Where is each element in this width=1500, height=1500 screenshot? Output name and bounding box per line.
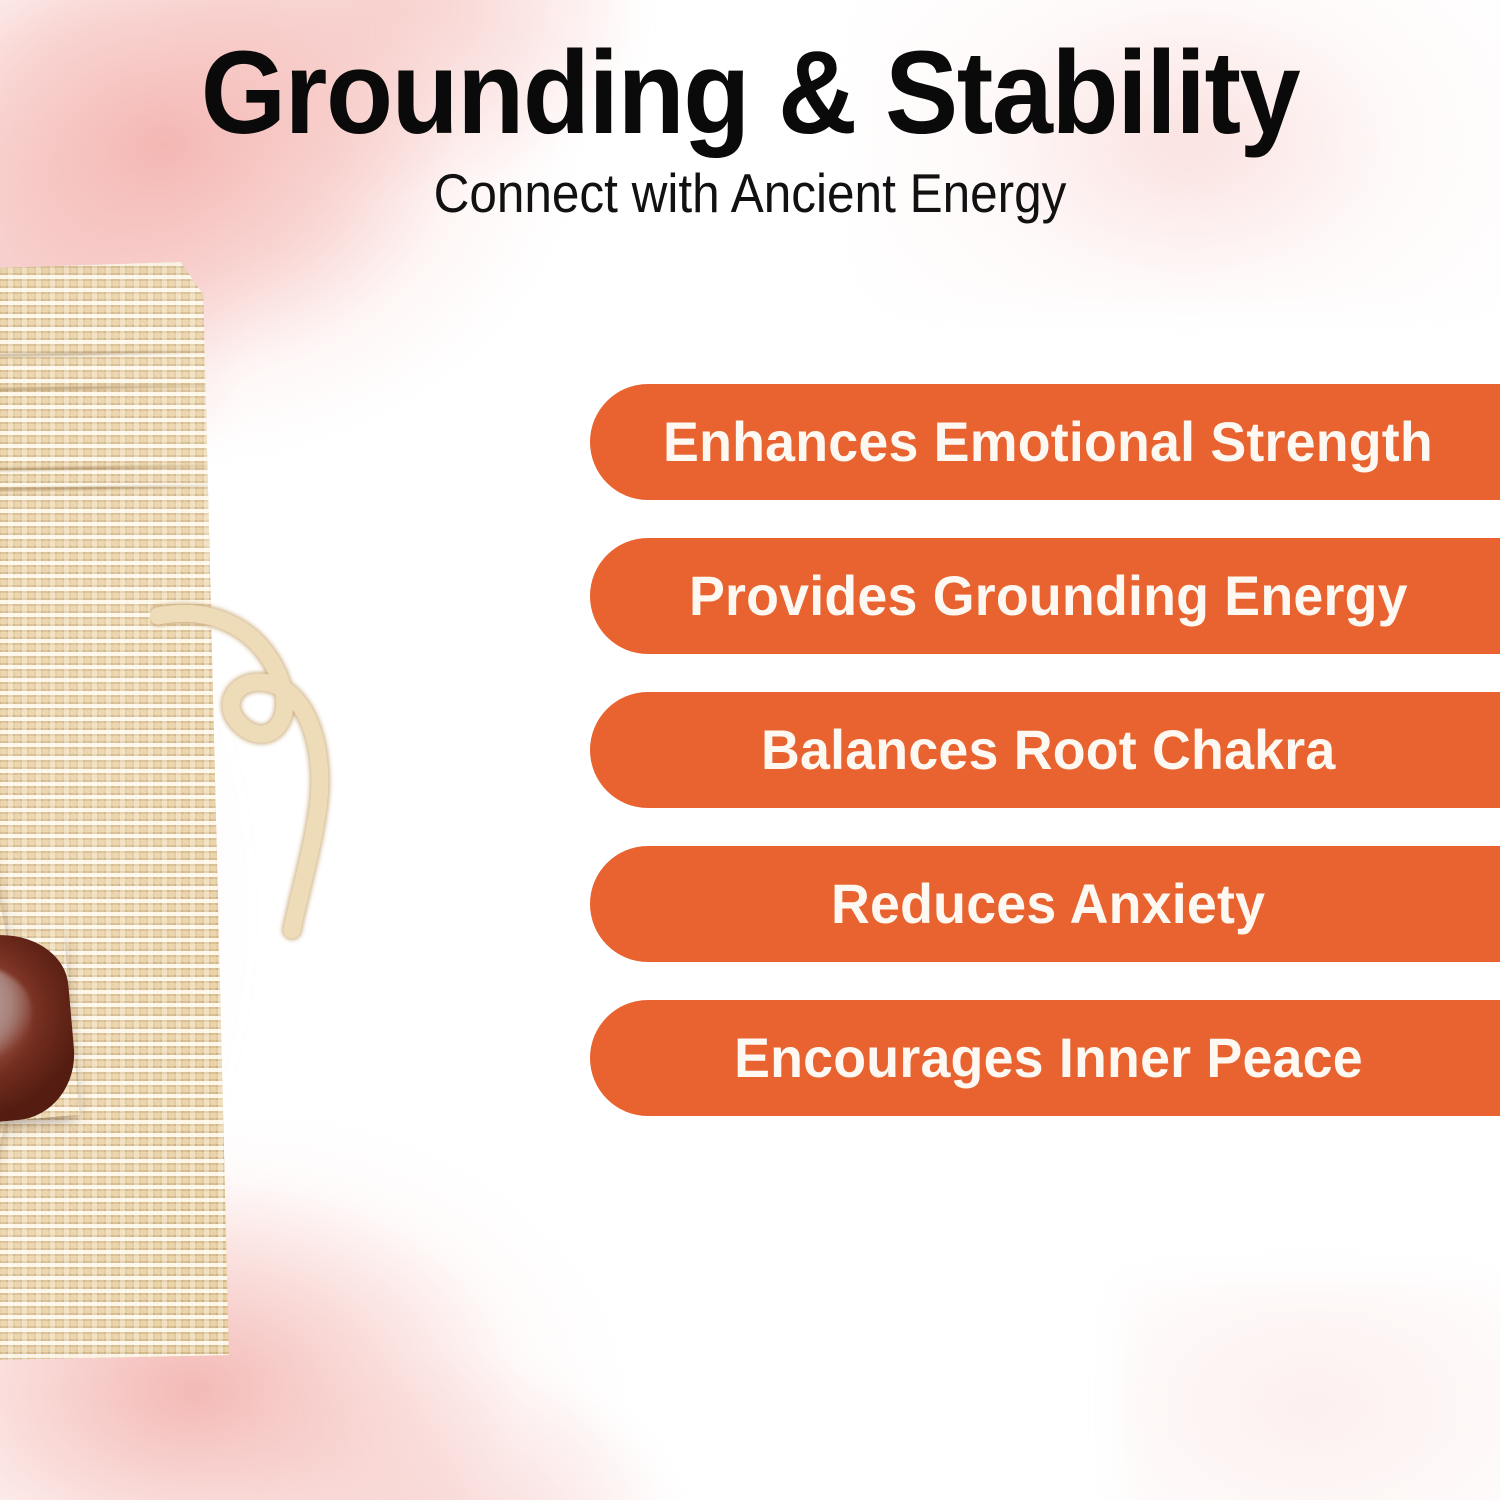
pouch-seam <box>0 350 214 361</box>
drawstring-cord-icon <box>150 600 370 950</box>
page-title: Grounding & Stability <box>53 34 1448 152</box>
product-photo: VALUE <box>0 262 470 1372</box>
pouch-seam <box>0 384 222 395</box>
benefit-list: Enhances Emotional Strength Provides Gro… <box>590 384 1500 1116</box>
benefit-pill[interactable]: Encourages Inner Peace <box>590 1000 1500 1116</box>
heading-block: Grounding & Stability Connect with Ancie… <box>0 34 1500 221</box>
benefit-pill[interactable]: Balances Root Chakra <box>590 692 1500 808</box>
benefit-pill[interactable]: Reduces Anxiety <box>590 846 1500 962</box>
benefit-label: Balances Root Chakra <box>761 722 1336 778</box>
watercolor-wash-bottom-right <box>1120 1280 1500 1500</box>
pouch-seam <box>0 464 230 474</box>
benefit-label: Encourages Inner Peace <box>734 1030 1363 1086</box>
benefit-label: Provides Grounding Energy <box>689 568 1408 624</box>
product-infographic: Grounding & Stability Connect with Ancie… <box>0 0 1500 1500</box>
benefit-label: Enhances Emotional Strength <box>663 414 1433 470</box>
page-subtitle: Connect with Ancient Energy <box>75 166 1425 221</box>
benefit-label: Reduces Anxiety <box>831 876 1265 932</box>
benefit-pill[interactable]: Provides Grounding Energy <box>590 538 1500 654</box>
benefit-pill[interactable]: Enhances Emotional Strength <box>590 384 1500 500</box>
pouch-seam <box>0 484 232 494</box>
